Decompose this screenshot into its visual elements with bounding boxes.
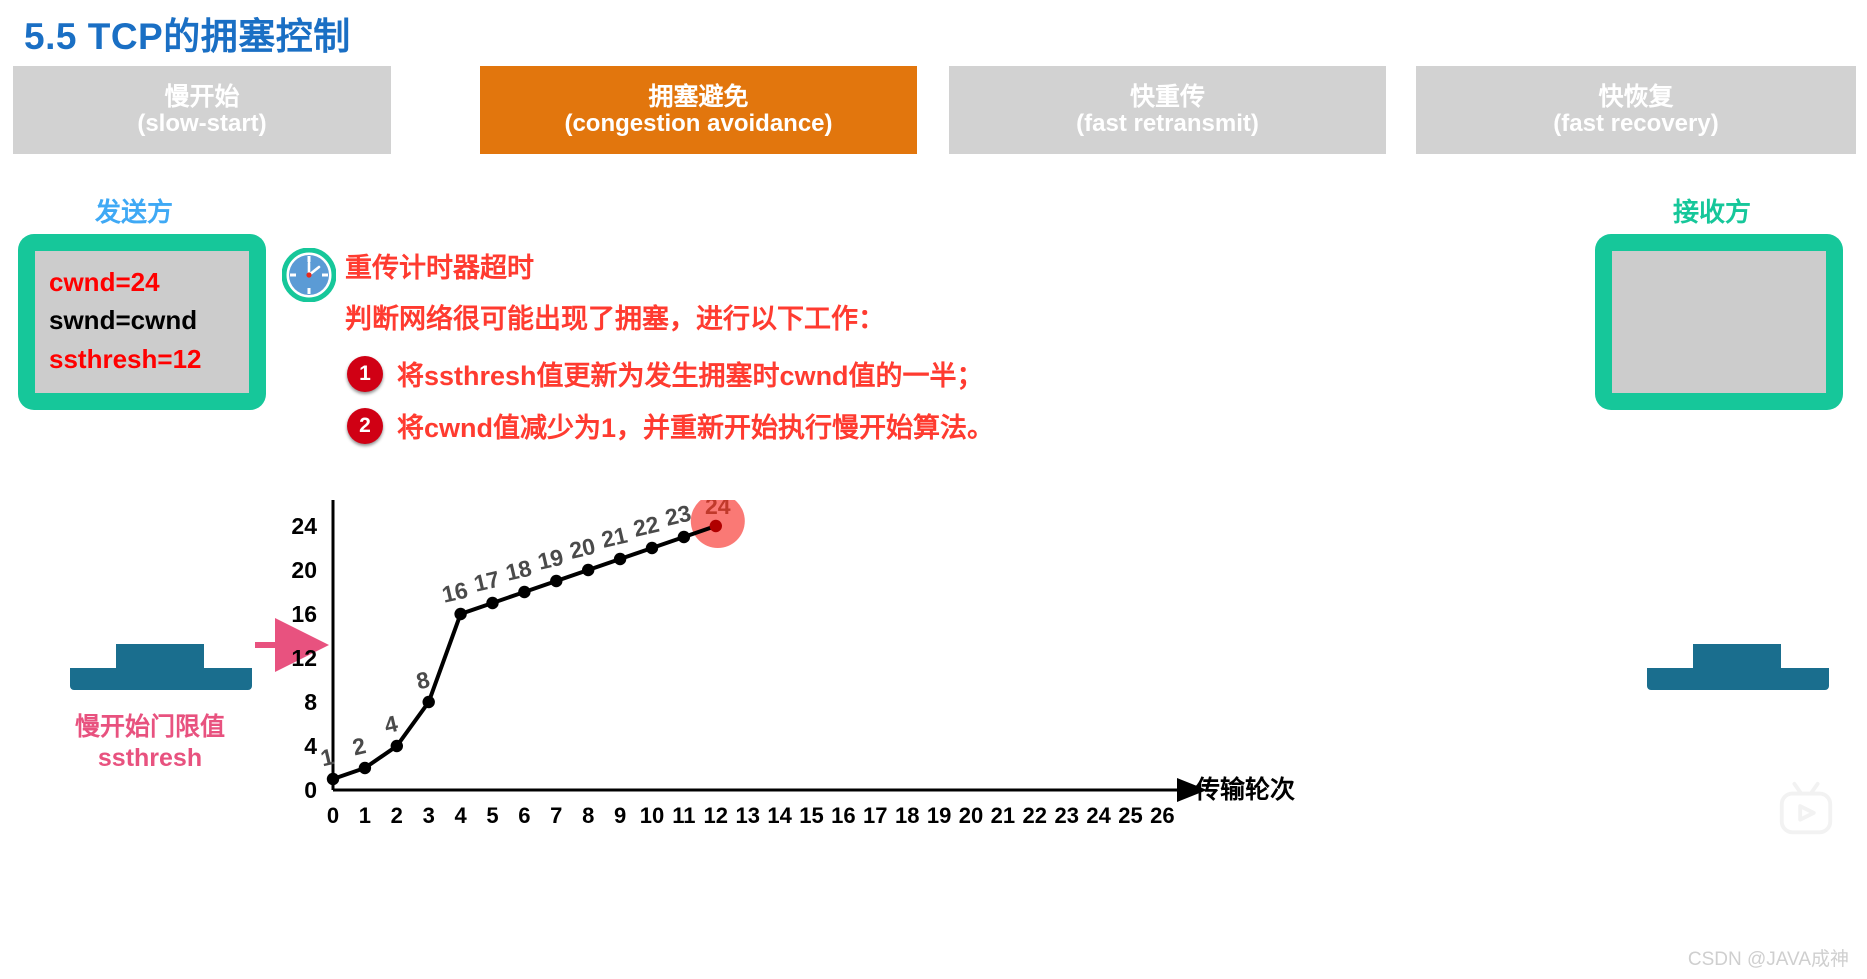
x-axis-ticks: 0123456789101112131415161718192021222324… [327, 803, 1175, 828]
y-tick-label: 12 [291, 645, 317, 671]
data-point [486, 597, 498, 609]
x-tick-label: 0 [327, 803, 339, 828]
data-point-label: 20 [567, 533, 598, 564]
data-point [391, 740, 403, 752]
note-bullet-1: 1 将ssthresh值更新为发生拥塞时cwnd值的一半； [347, 354, 984, 393]
ssthresh-side-note: 慢开始门限值 ssthresh [45, 712, 255, 773]
highlight-point-label: 24 [705, 500, 731, 519]
bullet-number-2: 2 [347, 408, 383, 444]
y-tick-label: 8 [304, 689, 317, 715]
x-tick-label: 2 [391, 803, 403, 828]
phase-tabs: 慢开始 (slow-start) 拥塞避免 (congestion avoida… [13, 66, 1856, 154]
cwnd-point-labels: 12481617181920212223 [318, 500, 693, 771]
sender-stat-cwnd: cwnd=24 [49, 263, 235, 301]
note-congestion-judgement: 判断网络很可能出现了拥塞，进行以下工作： [345, 297, 885, 336]
data-point [550, 575, 562, 587]
x-tick-label: 20 [959, 803, 983, 828]
data-point [327, 773, 339, 785]
x-tick-label: 17 [863, 803, 887, 828]
x-tick-label: 26 [1150, 803, 1174, 828]
x-tick-label: 16 [831, 803, 855, 828]
y-axis-ticks: 04812162024 [291, 513, 317, 803]
y-tick-label: 0 [304, 777, 317, 803]
x-tick-label: 21 [991, 803, 1015, 828]
cwnd-chart: 拥塞窗口 cwnd 传输轮次 网络产生拥塞时的cwnd=24 048121620… [255, 500, 1545, 970]
y-tick-label: 4 [304, 733, 317, 759]
x-tick-label: 23 [1054, 803, 1078, 828]
x-tick-label: 12 [704, 803, 728, 828]
sender-monitor-neck [116, 644, 204, 668]
data-point-label: 17 [471, 566, 502, 597]
data-point-label: 21 [599, 522, 630, 553]
clock-icon [282, 248, 336, 302]
tab-label-cn: 快重传 [1130, 84, 1205, 111]
bullet-text-2: 将cwnd值减少为1，并重新开始执行慢开始算法。 [397, 406, 994, 445]
x-tick-label: 18 [895, 803, 919, 828]
x-tick-label: 19 [927, 803, 951, 828]
tab-slow-start[interactable]: 慢开始 (slow-start) [13, 66, 391, 154]
receiver-computer [1595, 234, 1843, 410]
sender-stat-swnd: swnd=cwnd [49, 301, 235, 339]
tab-label-cn: 慢开始 [164, 84, 239, 111]
data-point [614, 553, 626, 565]
x-tick-label: 24 [1086, 803, 1111, 828]
slide-page: 5.5 TCP的拥塞控制 慢开始 (slow-start) 拥塞避免 (cong… [0, 0, 1867, 979]
x-tick-label: 3 [423, 803, 435, 828]
ssthresh-note-line1: 慢开始门限值 [45, 712, 255, 743]
y-tick-label: 16 [291, 601, 317, 627]
data-point [454, 608, 466, 620]
tab-fast-retransmit[interactable]: 快重传 (fast retransmit) [949, 66, 1386, 154]
receiver-monitor-bezel [1595, 234, 1843, 410]
data-point [710, 520, 722, 532]
x-tick-label: 6 [518, 803, 530, 828]
data-point [423, 696, 435, 708]
x-tick-label: 11 [672, 803, 695, 828]
receiver-label: 接收方 [1673, 192, 1751, 229]
bullet-text-1: 将ssthresh值更新为发生拥塞时cwnd值的一半； [397, 354, 984, 393]
tab-label-cn: 拥塞避免 [648, 84, 748, 111]
page-title: 5.5 TCP的拥塞控制 [24, 6, 351, 60]
x-axis-label: 传输轮次 [1194, 775, 1295, 804]
bilibili-logo-icon [1775, 778, 1837, 840]
note-retransmission-timeout: 重传计时器超时 [345, 246, 534, 285]
x-tick-label: 10 [640, 803, 664, 828]
data-point [678, 531, 690, 543]
sender-computer: cwnd=24 swnd=cwnd ssthresh=12 [18, 234, 266, 410]
tab-congestion-avoidance[interactable]: 拥塞避免 (congestion avoidance) [480, 66, 917, 154]
tab-label-en: (fast recovery) [1553, 111, 1718, 137]
data-point [582, 564, 594, 576]
x-tick-label: 25 [1118, 803, 1142, 828]
x-tick-label: 7 [550, 803, 562, 828]
data-point-label: 4 [382, 710, 401, 738]
x-tick-label: 4 [454, 803, 467, 828]
bullet-number-1: 1 [347, 356, 383, 392]
receiver-monitor-neck [1693, 644, 1781, 668]
data-point-label: 19 [535, 544, 566, 575]
x-tick-label: 8 [582, 803, 594, 828]
sender-monitor-screen: cwnd=24 swnd=cwnd ssthresh=12 [35, 251, 249, 393]
csdn-watermark: CSDN @JAVA成神 [1688, 944, 1849, 971]
data-point-label: 22 [631, 511, 662, 542]
x-tick-label: 15 [799, 803, 823, 828]
x-tick-label: 5 [486, 803, 498, 828]
x-tick-label: 13 [735, 803, 759, 828]
y-tick-label: 20 [291, 557, 317, 583]
data-point [646, 542, 658, 554]
x-tick-label: 9 [614, 803, 626, 828]
sender-label: 发送方 [95, 192, 173, 229]
x-tick-label: 14 [767, 803, 792, 828]
tab-fast-recovery[interactable]: 快恢复 (fast recovery) [1416, 66, 1856, 154]
x-tick-label: 1 [359, 803, 371, 828]
tab-label-cn: 快恢复 [1598, 84, 1673, 111]
data-point [518, 586, 530, 598]
ssthresh-note-line2: ssthresh [45, 743, 255, 774]
receiver-monitor-screen [1612, 251, 1826, 393]
data-point-label: 8 [414, 666, 433, 694]
sender-monitor-base [70, 668, 252, 690]
receiver-monitor-base [1647, 668, 1829, 690]
note-bullet-2: 2 将cwnd值减少为1，并重新开始执行慢开始算法。 [347, 406, 994, 445]
sender-stat-ssthresh: ssthresh=12 [49, 340, 235, 378]
data-point-label: 23 [663, 500, 694, 531]
data-point-label: 18 [503, 555, 534, 586]
sender-monitor-bezel: cwnd=24 swnd=cwnd ssthresh=12 [18, 234, 266, 410]
data-point-label: 16 [439, 577, 470, 608]
tab-label-en: (fast retransmit) [1076, 111, 1259, 137]
tab-label-en: (congestion avoidance) [564, 111, 832, 137]
data-point-label: 2 [350, 732, 368, 760]
x-tick-label: 22 [1023, 803, 1047, 828]
tab-label-en: (slow-start) [137, 111, 266, 137]
y-tick-label: 24 [291, 513, 317, 539]
data-point [359, 762, 371, 774]
